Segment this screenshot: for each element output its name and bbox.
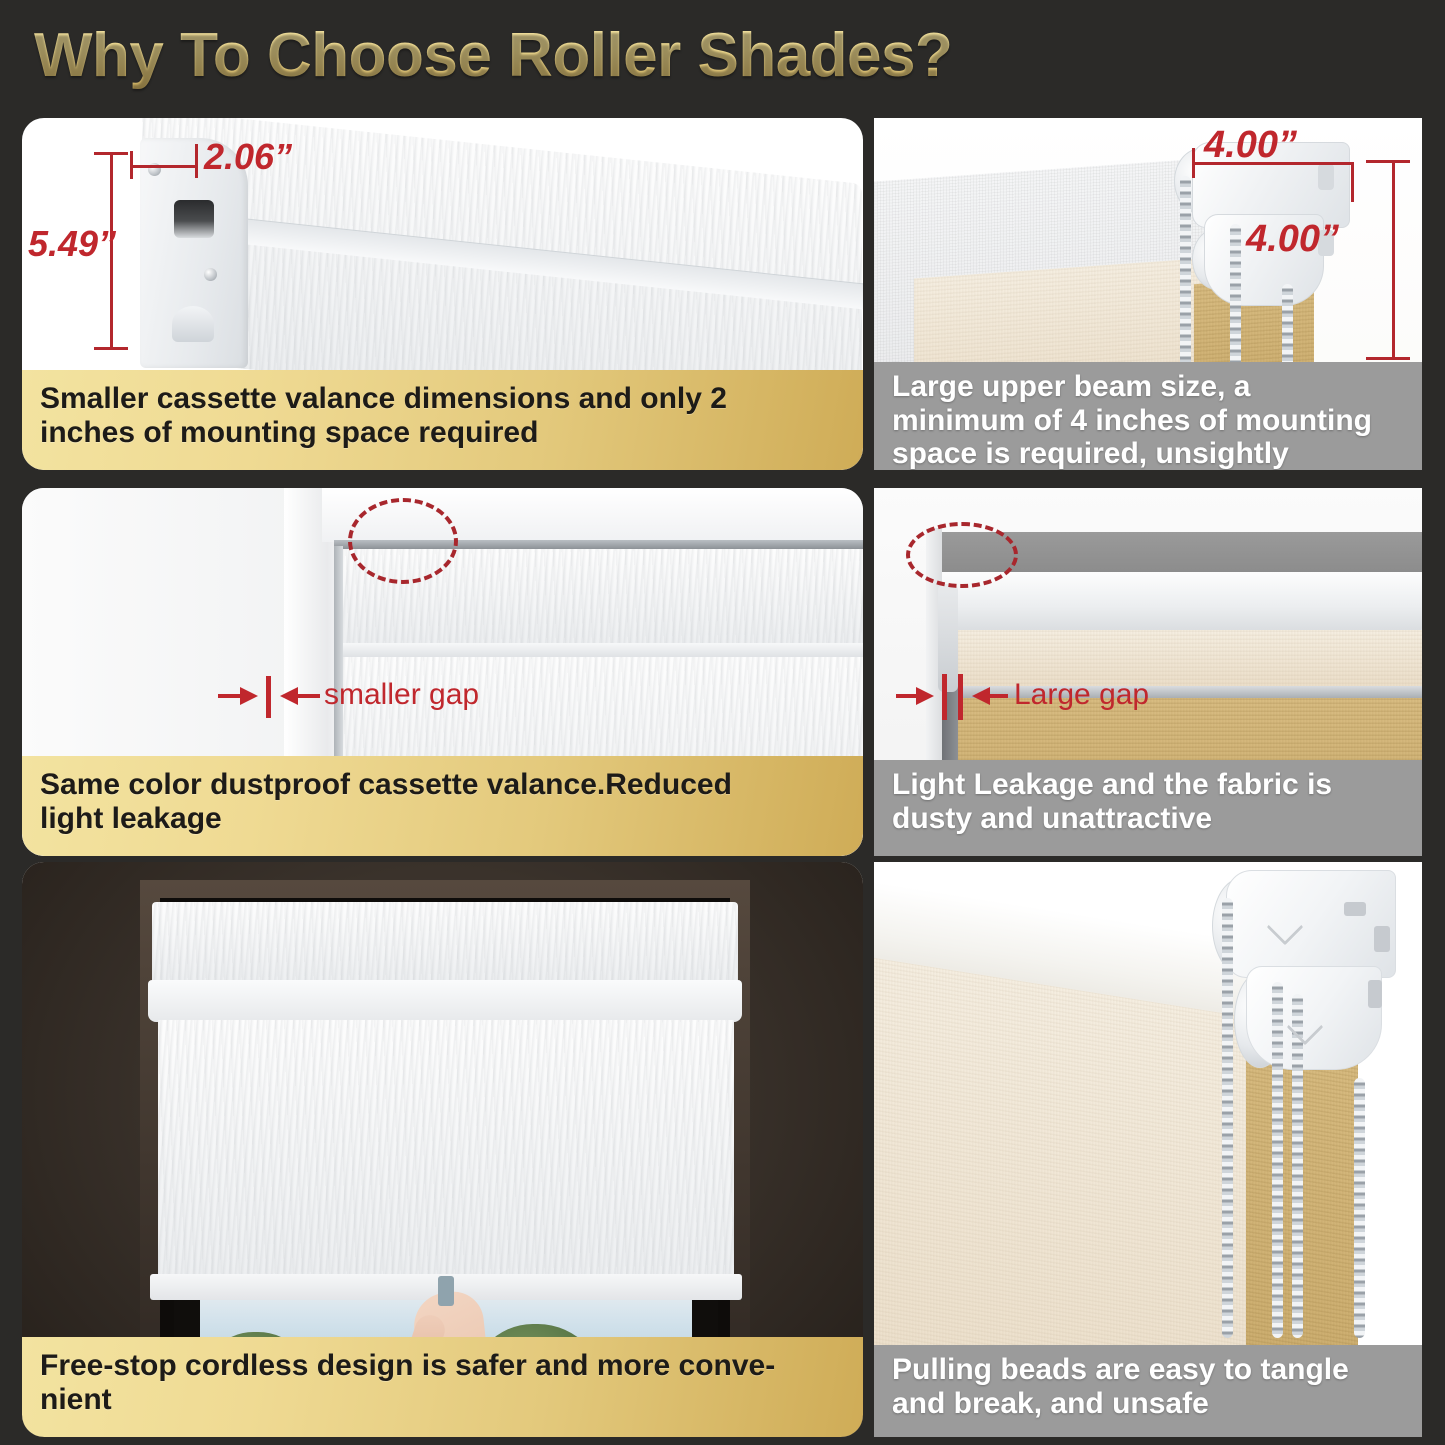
gap-arrow-right — [916, 687, 934, 705]
caption-line: inches of mounting space required — [40, 416, 845, 450]
shade-divider — [340, 643, 863, 657]
panel-light-leakage-dusty-fabric[interactable]: Large gap Light Leakage and the fabric i… — [874, 488, 1422, 856]
panel-large-upper-beam[interactable]: 4.00” 4.00” Large upper beam size, a min… — [874, 118, 1422, 470]
gap-arrow-tail-right — [990, 694, 1008, 698]
caption-dustproof-cassette-valance: Same color dustproof cassette valance.Re… — [22, 756, 863, 856]
caption-light-leakage-dusty-fabric: Light Leakage and the fabric is dusty an… — [874, 760, 1422, 856]
gap-marker-right — [958, 674, 963, 720]
valance-slot — [174, 200, 214, 238]
upper-beam — [934, 572, 1422, 634]
beam-width-tick-left — [1192, 148, 1195, 178]
bracket-notch — [1318, 164, 1334, 190]
valance-lip — [148, 980, 742, 1022]
height-tick-bottom — [94, 347, 128, 350]
panel-pulling-beads-tangle[interactable]: Pulling beads are easy to tangle and bre… — [874, 862, 1422, 1437]
bracket-slot — [1368, 980, 1382, 1008]
beam-height-label: 4.00” — [1246, 218, 1339, 261]
beam-height-tick-bottom — [1366, 357, 1410, 360]
gap-label: smaller gap — [324, 678, 479, 712]
beam-width-tick-right — [1351, 162, 1354, 202]
gap-label: Large gap — [1014, 678, 1149, 712]
caption-pulling-beads-tangle: Pulling beads are easy to tangle and bre… — [874, 1345, 1422, 1437]
caption-line: minimum of 4 inches of mounting — [892, 404, 1404, 438]
caption-cassette-valance-dimensions: Smaller cassette valance dimensions and … — [22, 370, 863, 470]
gap-arrow-left — [972, 687, 990, 705]
valance-boss — [172, 306, 214, 342]
pull-tab — [438, 1276, 454, 1306]
bead-chain — [1222, 898, 1233, 1338]
bead-chain — [1354, 1078, 1365, 1338]
bracket-slot — [1374, 926, 1390, 952]
caption-line: nient — [40, 1383, 845, 1417]
width-tick-left — [130, 151, 133, 179]
page-title: Why To Choose Roller Shades? — [34, 20, 952, 91]
page-header: Why To Choose Roller Shades? — [0, 0, 1445, 110]
beam-width-label: 4.00” — [1204, 124, 1297, 167]
caption-free-stop-cordless-design: Free-stop cordless design is safer and m… — [22, 1337, 863, 1437]
roller-bracket-upper — [1226, 870, 1396, 978]
comparison-grid: 5.49” 2.06” Smaller cassette valance dim… — [0, 110, 1445, 1445]
caption-line: Light Leakage and the fabric is — [892, 768, 1404, 802]
gap-arrow-tail-right — [298, 694, 320, 698]
panel-dustproof-cassette-valance[interactable]: smaller gap Same color dustproof cassett… — [22, 488, 863, 856]
beam-height-line — [1392, 160, 1395, 360]
panel-cassette-valance-dimensions[interactable]: 5.49” 2.06” Smaller cassette valance dim… — [22, 118, 863, 470]
caption-large-upper-beam: Large upper beam size, a minimum of 4 in… — [874, 362, 1422, 470]
caption-line: Pulling beads are easy to tangle — [892, 1353, 1404, 1387]
height-dimension-label: 5.49” — [28, 223, 116, 265]
caption-line: Same color dustproof cassette valance.Re… — [40, 768, 845, 802]
width-dimension-label: 2.06” — [204, 136, 292, 178]
cassette-valance — [152, 902, 738, 986]
width-dimension-line — [130, 165, 198, 168]
caption-line: space is required, unsightly — [892, 437, 1404, 470]
roller-shade-fabric — [158, 1020, 734, 1282]
highlight-circle — [348, 498, 458, 584]
caption-line: light leakage — [40, 802, 845, 836]
width-tick-right — [195, 144, 198, 178]
caption-line: dusty and unattractive — [892, 802, 1404, 836]
mounting-clip — [938, 584, 958, 692]
caption-line: Smaller cassette valance dimensions and … — [40, 382, 845, 416]
panel-free-stop-cordless-design[interactable]: Free-stop cordless design is safer and m… — [22, 862, 863, 1437]
gap-marker-left — [942, 674, 947, 720]
caption-line: and break, and unsafe — [892, 1387, 1404, 1421]
height-tick-top — [94, 152, 128, 155]
beam-height-tick-top — [1366, 160, 1410, 163]
bead-chain — [1292, 994, 1303, 1338]
caption-line: Free-stop cordless design is safer and m… — [40, 1349, 845, 1383]
gap-marker — [266, 676, 271, 718]
screw-icon — [204, 268, 217, 281]
highlight-circle — [906, 522, 1018, 588]
caption-line: Large upper beam size, a — [892, 370, 1404, 404]
bead-chain — [1272, 982, 1283, 1338]
bracket-slot — [1344, 902, 1366, 916]
gap-arrow-tail-left — [218, 694, 242, 698]
gap-arrow-right — [240, 687, 258, 705]
gap-arrow-tail-left — [896, 694, 918, 698]
gap-arrow-left — [280, 687, 298, 705]
